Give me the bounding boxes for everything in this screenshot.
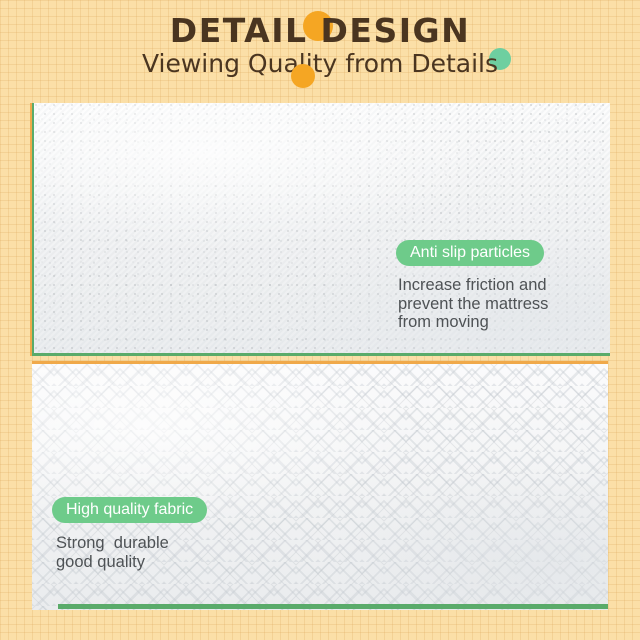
page-title-container: DETAIL DESIGN — [0, 11, 640, 51]
feature-photo-two-green-underline — [58, 604, 608, 609]
subtitle-orange-dot-decoration — [291, 64, 315, 88]
header: DETAIL DESIGN Viewing Quality from Detai… — [0, 0, 640, 100]
feature-caption-high-quality-fabric: Strong durable good quality — [56, 534, 169, 571]
chevron-fabric-sheen — [32, 364, 608, 610]
feature-badge-anti-slip: Anti slip particles — [396, 240, 544, 266]
page-subtitle-container: Viewing Quality from Details — [0, 47, 640, 81]
feature-caption-anti-slip: Increase friction and prevent the mattre… — [398, 276, 548, 332]
feature-badge-high-quality-fabric: High quality fabric — [52, 497, 207, 523]
page-title: DETAIL DESIGN — [170, 11, 470, 50]
feature-photo-high-quality-fabric — [32, 361, 608, 610]
page-subtitle: Viewing Quality from Details — [142, 49, 498, 78]
